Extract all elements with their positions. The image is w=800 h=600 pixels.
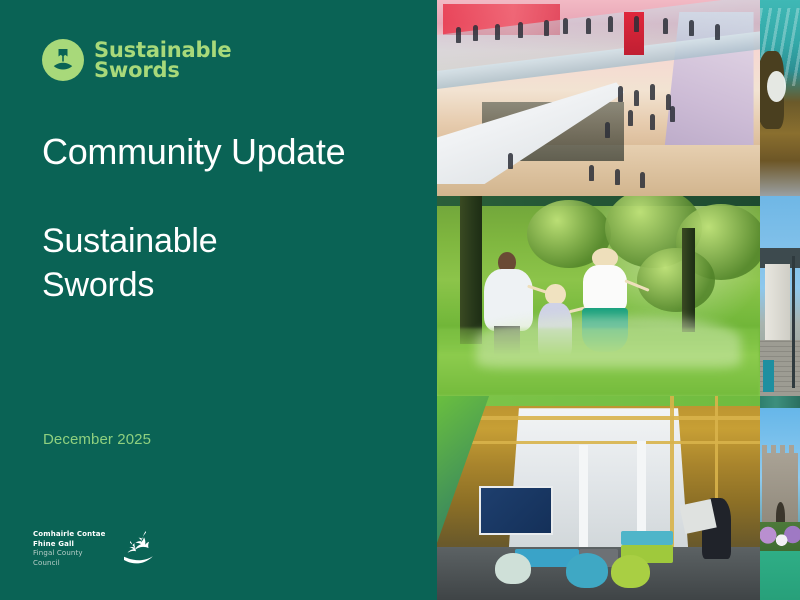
- shopping-mall-interior-photo: [437, 0, 760, 196]
- civic-building-interior-photo: [437, 396, 760, 600]
- council-irish-line-2: Fhine Gall: [33, 540, 106, 550]
- brand-wordmark: Sustainable Swords: [94, 40, 231, 81]
- family-in-park-photo: [437, 196, 760, 396]
- swords-castle-photo: [760, 396, 800, 600]
- waterfront-photo: [760, 0, 800, 196]
- council-logo-text: Comhairle Contae Fhine Gall Fingal Count…: [33, 527, 106, 569]
- title-panel: Sustainable Swords Community Update Sust…: [0, 0, 437, 600]
- fingal-county-council-crest: [116, 527, 160, 567]
- council-irish-line-1: Comhairle Contae: [33, 530, 106, 540]
- council-english-line-2: Council: [33, 559, 106, 569]
- slide-subtitle-line-1: Sustainable: [42, 222, 218, 260]
- brand-wordmark-line-2: Swords: [94, 60, 231, 80]
- slide-subtitle: Sustainable Swords: [42, 220, 372, 307]
- brand-logo: Sustainable Swords: [41, 38, 231, 82]
- fingal-county-council-logo: Comhairle Contae Fhine Gall Fingal Count…: [33, 527, 160, 569]
- street-building-photo: [760, 196, 800, 396]
- slide-date: December 2025: [43, 431, 151, 448]
- brand-wordmark-line-1: Sustainable: [94, 40, 231, 60]
- presentation-slide: Sustainable Swords Community Update Sust…: [0, 0, 800, 600]
- photo-collage: [437, 0, 800, 600]
- slide-subtitle-line-2: Swords: [42, 266, 154, 304]
- council-english-line-1: Fingal County: [33, 549, 106, 559]
- sustainable-swords-logo-mark: [41, 38, 85, 82]
- slide-title: Community Update: [42, 132, 422, 172]
